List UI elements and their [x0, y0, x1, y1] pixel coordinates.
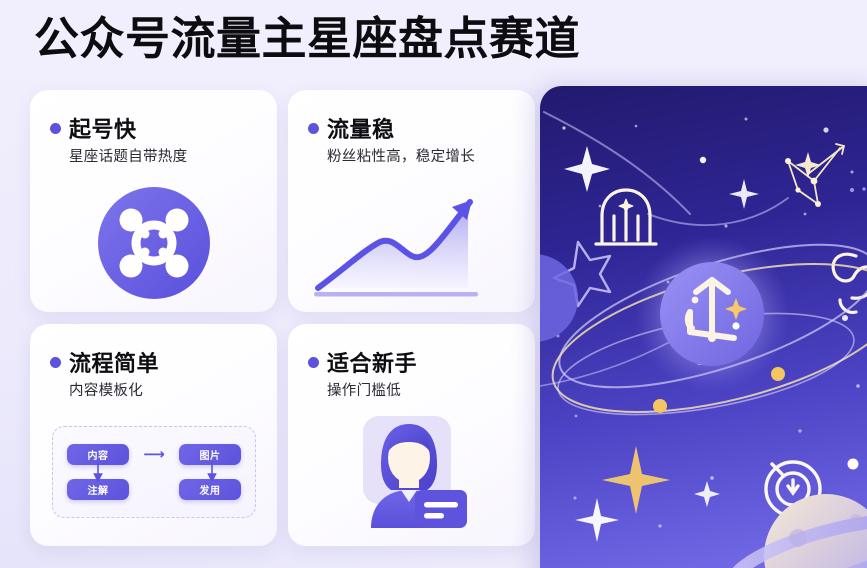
feature-card-grid: 起号快 星座话题自带热度 [30, 90, 530, 552]
flow-diagram-icon: 内容 ⟶ 图片 注解 发用 [52, 426, 256, 518]
constellation-sagittarius [788, 144, 844, 204]
poster-root: 公众号流量主星座盘点赛道 起号快 星座话题自带热度 [0, 0, 867, 568]
zodiac-glyph-leo [833, 254, 867, 312]
zodiac-glyph-aquarius [596, 190, 656, 244]
sparkle-stars [602, 446, 670, 514]
card-title: 起号快 [69, 112, 137, 144]
arrow-right-icon: ⟶ [143, 447, 165, 462]
flow-step-3: 注解 [67, 479, 129, 500]
growth-chart-icon [300, 180, 529, 312]
card-artwork [288, 412, 535, 546]
card-title: 流程简单 [69, 346, 159, 378]
network-hub-icon [30, 184, 277, 302]
beginner-avatar-icon [288, 412, 535, 532]
flow-cell: 图片 [179, 437, 241, 472]
card-title: 流量稳 [327, 112, 395, 144]
flow-step-4: 发用 [179, 479, 241, 500]
card-header: 适合新手 [308, 346, 417, 378]
feature-card-shihexinshou[interactable]: 适合新手 操作门槛低 [288, 324, 535, 546]
zodiac-space-illustration [540, 86, 867, 568]
card-header: 起号快 [50, 112, 137, 144]
card-artwork: 内容 ⟶ 图片 注解 发用 [30, 412, 277, 546]
card-artwork [30, 178, 277, 312]
card-subtitle: 星座话题自带热度 [69, 145, 187, 166]
card-subtitle: 内容模板化 [69, 379, 143, 400]
bullet-dot-icon [308, 123, 319, 134]
card-header: 流量稳 [308, 112, 395, 144]
card-title: 适合新手 [327, 346, 417, 378]
card-artwork [288, 178, 535, 312]
flow-cell: 注解 [67, 472, 129, 507]
card-subtitle: 操作门槛低 [327, 379, 401, 400]
sparkle-stars [564, 146, 759, 209]
flow-cell: 发用 [179, 472, 241, 507]
bullet-dot-icon [308, 357, 319, 368]
page-title: 公众号流量主星座盘点赛道 [34, 14, 580, 64]
card-header: 流程简单 [50, 346, 159, 378]
constellation-sagittarius [785, 152, 821, 207]
flow-cell: 内容 [67, 437, 129, 472]
feature-card-liuliangwen[interactable]: 流量稳 粉丝粘性高，稳定增长 [288, 90, 535, 312]
orbit-rings [653, 367, 859, 510]
saturn-planet [727, 494, 867, 568]
flow-cell: ⟶ [129, 437, 179, 472]
feature-card-qihaokuai[interactable]: 起号快 星座话题自带热度 [30, 90, 277, 312]
left-planet-sliver [540, 254, 578, 342]
bullet-dot-icon [50, 357, 61, 368]
flow-cell [129, 472, 179, 507]
flow-step-1: 内容 [67, 444, 129, 465]
flow-step-2: 图片 [179, 444, 241, 465]
bullet-dot-icon [50, 123, 61, 134]
feature-card-liuchengjiandan[interactable]: 流程简单 内容模板化 内容 ⟶ 图片 注解 [30, 324, 277, 546]
card-subtitle: 粉丝粘性高，稳定增长 [327, 145, 475, 166]
